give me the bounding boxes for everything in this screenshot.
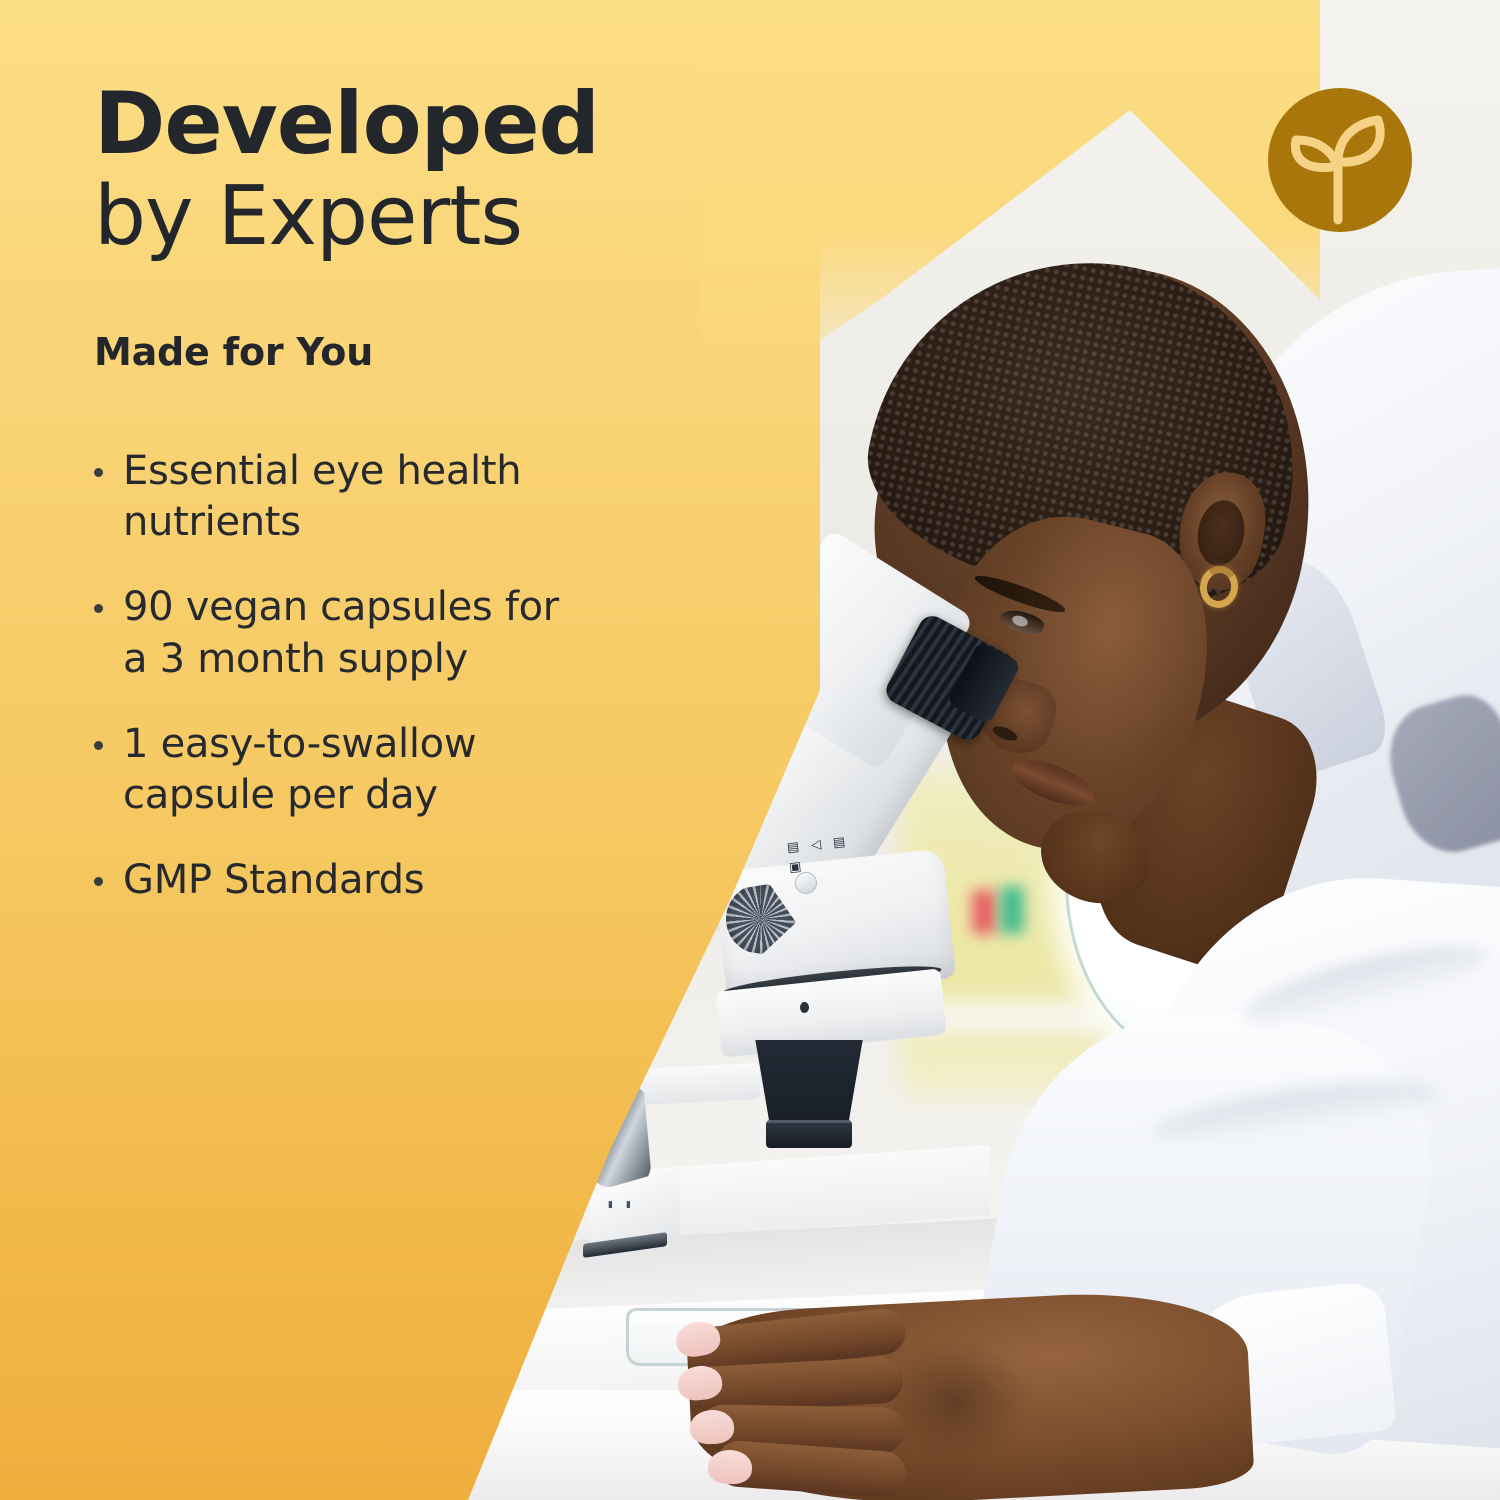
promo-banner: ▤ ◁ ▤ ▣ ▮ ▮	[0, 0, 1500, 1500]
list-item-label: Essential eye health nutrients	[123, 446, 593, 548]
background-vial-green	[1000, 886, 1024, 934]
slider-icon: ▤	[832, 836, 846, 853]
page-subtitle: Made for You	[94, 330, 373, 374]
bullet-dot-icon	[94, 604, 103, 613]
bullet-dot-icon	[94, 741, 103, 750]
text-column: Developed by Experts Made for You Essent…	[0, 0, 700, 1500]
microscope-objective-ring	[766, 1120, 852, 1148]
aperture-icon: ◁	[810, 838, 822, 855]
brand-logo	[1268, 88, 1414, 234]
slider-icon: ▤	[786, 840, 800, 857]
list-item: GMP Standards	[94, 855, 664, 906]
list-item: 1 easy-to-swallow capsule per day	[94, 719, 664, 821]
feature-list: Essential eye health nutrients 90 vegan …	[94, 446, 664, 940]
page-title-line-2: by Experts	[94, 171, 674, 263]
list-item: 90 vegan capsules for a 3 month supply	[94, 582, 664, 684]
list-item: Essential eye health nutrients	[94, 446, 664, 548]
bullet-dot-icon	[94, 877, 103, 886]
list-item-label: GMP Standards	[123, 855, 424, 906]
bullet-dot-icon	[94, 468, 103, 477]
page-title-line-1: Developed	[94, 78, 674, 171]
microscope-control-icons: ▤ ◁ ▤ ▣	[786, 834, 859, 877]
list-item-label: 1 easy-to-swallow capsule per day	[123, 719, 593, 821]
sprout-leaf-icon	[1268, 88, 1414, 234]
fingernail	[707, 1449, 752, 1485]
microscope-button	[795, 872, 817, 894]
list-item-label: 90 vegan capsules for a 3 month supply	[123, 582, 593, 684]
page-title: Developed by Experts	[94, 78, 674, 263]
hand-shading	[880, 1340, 1030, 1460]
microscope-collar-screw	[800, 1002, 809, 1013]
background-vial-red	[972, 890, 996, 934]
